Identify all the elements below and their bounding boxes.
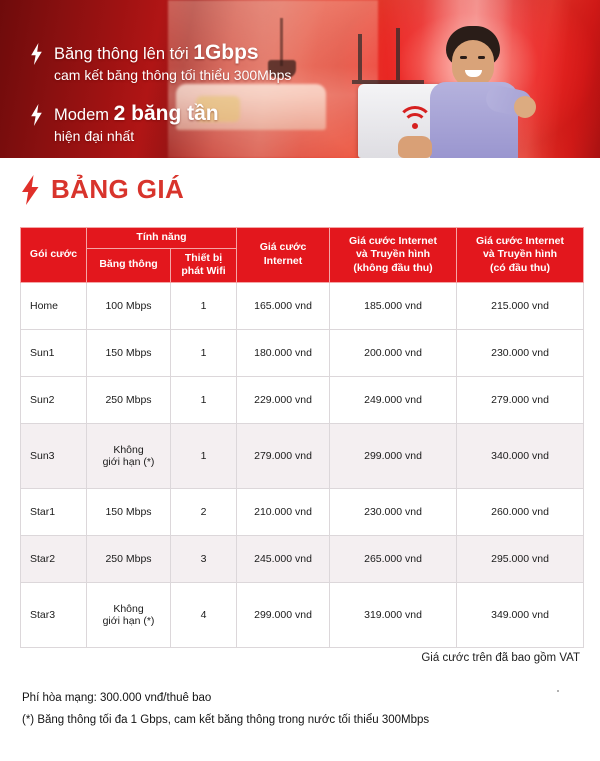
cell-tv-no-box-price: 265.000 vnd — [330, 535, 457, 582]
cell-bandwidth: 150 Mbps — [87, 329, 171, 376]
banner-bullet-1-main: Băng thông lên tới 1Gbps — [54, 40, 291, 67]
cell-internet-price: 210.000 vnd — [237, 488, 330, 535]
col-header-internet-tv-no-box-l3: (không đầu thu) — [353, 262, 432, 274]
cell-bandwidth-l1: 250 Mbps — [105, 394, 151, 406]
cell-internet-price: 279.000 vnd — [237, 423, 330, 488]
cell-bandwidth-l1: Không — [113, 603, 143, 615]
cell-bandwidth-l2: giới hạn (*) — [103, 615, 155, 627]
cell-bandwidth-l1: 100 Mbps — [105, 300, 151, 312]
cell-internet-price: 165.000 vnd — [237, 282, 330, 329]
stray-dot — [557, 690, 559, 692]
cell-tv-box-price: 260.000 vnd — [457, 488, 584, 535]
cell-tv-no-box-price: 200.000 vnd — [330, 329, 457, 376]
col-header-internet-tv-box-l3: (có đầu thu) — [490, 262, 550, 274]
cell-bandwidth: Không giới hạn (*) — [87, 582, 171, 647]
banner-bullet-1: Băng thông lên tới 1Gbps cam kết băng th… — [30, 40, 291, 85]
person-graphic — [410, 26, 540, 158]
table-body: Home 100 Mbps 1 165.000 vnd 185.000 vnd … — [21, 282, 584, 647]
banner-bullet-2-sub: hiện đại nhất — [54, 128, 219, 146]
col-header-internet-price-l2: Internet — [264, 255, 303, 267]
table-row: Sun1 150 Mbps 1 180.000 vnd 200.000 vnd … — [21, 329, 584, 376]
col-header-internet-tv-box-l1: Giá cước Internet — [476, 235, 564, 247]
cell-wifi-device: 1 — [171, 423, 237, 488]
cell-internet-price: 245.000 vnd — [237, 535, 330, 582]
promo-banner: Băng thông lên tới 1Gbps cam kết băng th… — [0, 0, 600, 158]
cell-tv-no-box-price: 319.000 vnd — [330, 582, 457, 647]
cell-bandwidth-l1: 250 Mbps — [105, 553, 151, 565]
cell-package: Sun3 — [21, 423, 87, 488]
col-header-features-group: Tính năng — [87, 228, 237, 249]
table-row: Home 100 Mbps 1 165.000 vnd 185.000 vnd … — [21, 282, 584, 329]
table-header: Gói cước Tính năng Giá cước Internet Giá… — [21, 228, 584, 283]
cell-internet-price: 180.000 vnd — [237, 329, 330, 376]
lightning-bolt-icon — [30, 43, 43, 65]
vat-note: Giá cước trên đã bao gồm VAT — [421, 652, 580, 664]
table-row: Star3 Không giới hạn (*) 4 299.000 vnd 3… — [21, 582, 584, 647]
cell-tv-box-price: 230.000 vnd — [457, 329, 584, 376]
cell-tv-box-price: 279.000 vnd — [457, 376, 584, 423]
cell-wifi-device: 2 — [171, 488, 237, 535]
cell-bandwidth-l1: 150 Mbps — [105, 347, 151, 359]
banner-bullet-2: Modem 2 băng tần hiện đại nhất — [30, 101, 291, 146]
col-header-internet-price-l1: Giá cước — [260, 241, 307, 253]
banner-bullet-1-main-prefix: Băng thông lên tới — [54, 45, 193, 63]
banner-bullet-2-main-prefix: Modem — [54, 106, 114, 124]
col-header-wifi-device-l1: Thiết bị — [185, 252, 222, 264]
cell-bandwidth-l1: Không — [113, 444, 143, 456]
footer-note-installation-fee: Phí hòa mạng: 300.000 vnđ/thuê bao — [22, 687, 429, 709]
col-header-wifi-device-l2: phát Wifi — [181, 265, 225, 277]
cell-package: Sun1 — [21, 329, 87, 376]
banner-bullet-1-main-strong: 1Gbps — [193, 41, 258, 64]
col-header-package: Gói cước — [21, 228, 87, 283]
page-title: BẢNG GIÁ — [51, 174, 184, 205]
col-header-internet-tv-no-box: Giá cước Internet và Truyền hình (không … — [330, 228, 457, 283]
cell-tv-box-price: 340.000 vnd — [457, 423, 584, 488]
hand-graphic — [398, 136, 432, 158]
footer-notes: Phí hòa mạng: 300.000 vnđ/thuê bao (*) B… — [22, 687, 429, 732]
banner-bullet-2-main-strong: 2 băng tần — [114, 102, 219, 125]
col-header-internet-tv-box: Giá cước Internet và Truyền hình (có đầu… — [457, 228, 584, 283]
footer-note-bandwidth-asterisk: (*) Băng thông tối đa 1 Gbps, cam kết bă… — [22, 709, 429, 731]
cell-bandwidth-l2: giới hạn (*) — [103, 456, 155, 468]
col-header-bandwidth: Băng thông — [87, 248, 171, 282]
cell-tv-box-price: 349.000 vnd — [457, 582, 584, 647]
col-header-internet-tv-no-box-l1: Giá cước Internet — [349, 235, 437, 247]
banner-text-block: Băng thông lên tới 1Gbps cam kết băng th… — [30, 40, 291, 158]
table-row: Sun3 Không giới hạn (*) 1 279.000 vnd 29… — [21, 423, 584, 488]
cell-bandwidth: 250 Mbps — [87, 376, 171, 423]
cell-bandwidth: 250 Mbps — [87, 535, 171, 582]
table-header-row-1: Gói cước Tính năng Giá cước Internet Giá… — [21, 228, 584, 249]
lightning-bolt-icon — [30, 104, 43, 126]
cell-package: Star2 — [21, 535, 87, 582]
cell-tv-no-box-price: 249.000 vnd — [330, 376, 457, 423]
cell-tv-box-price: 295.000 vnd — [457, 535, 584, 582]
cell-package: Star1 — [21, 488, 87, 535]
cell-bandwidth: 150 Mbps — [87, 488, 171, 535]
banner-bullet-2-main: Modem 2 băng tần — [54, 101, 219, 128]
cell-wifi-device: 3 — [171, 535, 237, 582]
col-header-internet-price: Giá cước Internet — [237, 228, 330, 283]
col-header-internet-tv-box-l2: và Truyền hình — [483, 248, 557, 260]
cell-package: Sun2 — [21, 376, 87, 423]
cell-tv-no-box-price: 299.000 vnd — [330, 423, 457, 488]
cell-bandwidth-l1: 150 Mbps — [105, 506, 151, 518]
cell-wifi-device: 1 — [171, 376, 237, 423]
table-row: Star1 150 Mbps 2 210.000 vnd 230.000 vnd… — [21, 488, 584, 535]
table-row: Star2 250 Mbps 3 245.000 vnd 265.000 vnd… — [21, 535, 584, 582]
cell-tv-no-box-price: 185.000 vnd — [330, 282, 457, 329]
cell-tv-no-box-price: 230.000 vnd — [330, 488, 457, 535]
cell-wifi-device: 1 — [171, 282, 237, 329]
cell-wifi-device: 4 — [171, 582, 237, 647]
section-title: BẢNG GIÁ — [20, 174, 184, 205]
cell-internet-price: 299.000 vnd — [237, 582, 330, 647]
cell-internet-price: 229.000 vnd — [237, 376, 330, 423]
price-table: Gói cước Tính năng Giá cước Internet Giá… — [20, 227, 584, 648]
cell-package: Home — [21, 282, 87, 329]
lightning-bolt-icon — [20, 175, 40, 205]
col-header-internet-tv-no-box-l2: và Truyền hình — [356, 248, 430, 260]
cell-tv-box-price: 215.000 vnd — [457, 282, 584, 329]
cell-package: Star3 — [21, 582, 87, 647]
table-row: Sun2 250 Mbps 1 229.000 vnd 249.000 vnd … — [21, 376, 584, 423]
cell-bandwidth: Không giới hạn (*) — [87, 423, 171, 488]
cell-bandwidth: 100 Mbps — [87, 282, 171, 329]
cell-wifi-device: 1 — [171, 329, 237, 376]
banner-bullet-1-sub: cam kết băng thông tối thiểu 300Mbps — [54, 67, 291, 85]
col-header-wifi-device: Thiết bị phát Wifi — [171, 248, 237, 282]
